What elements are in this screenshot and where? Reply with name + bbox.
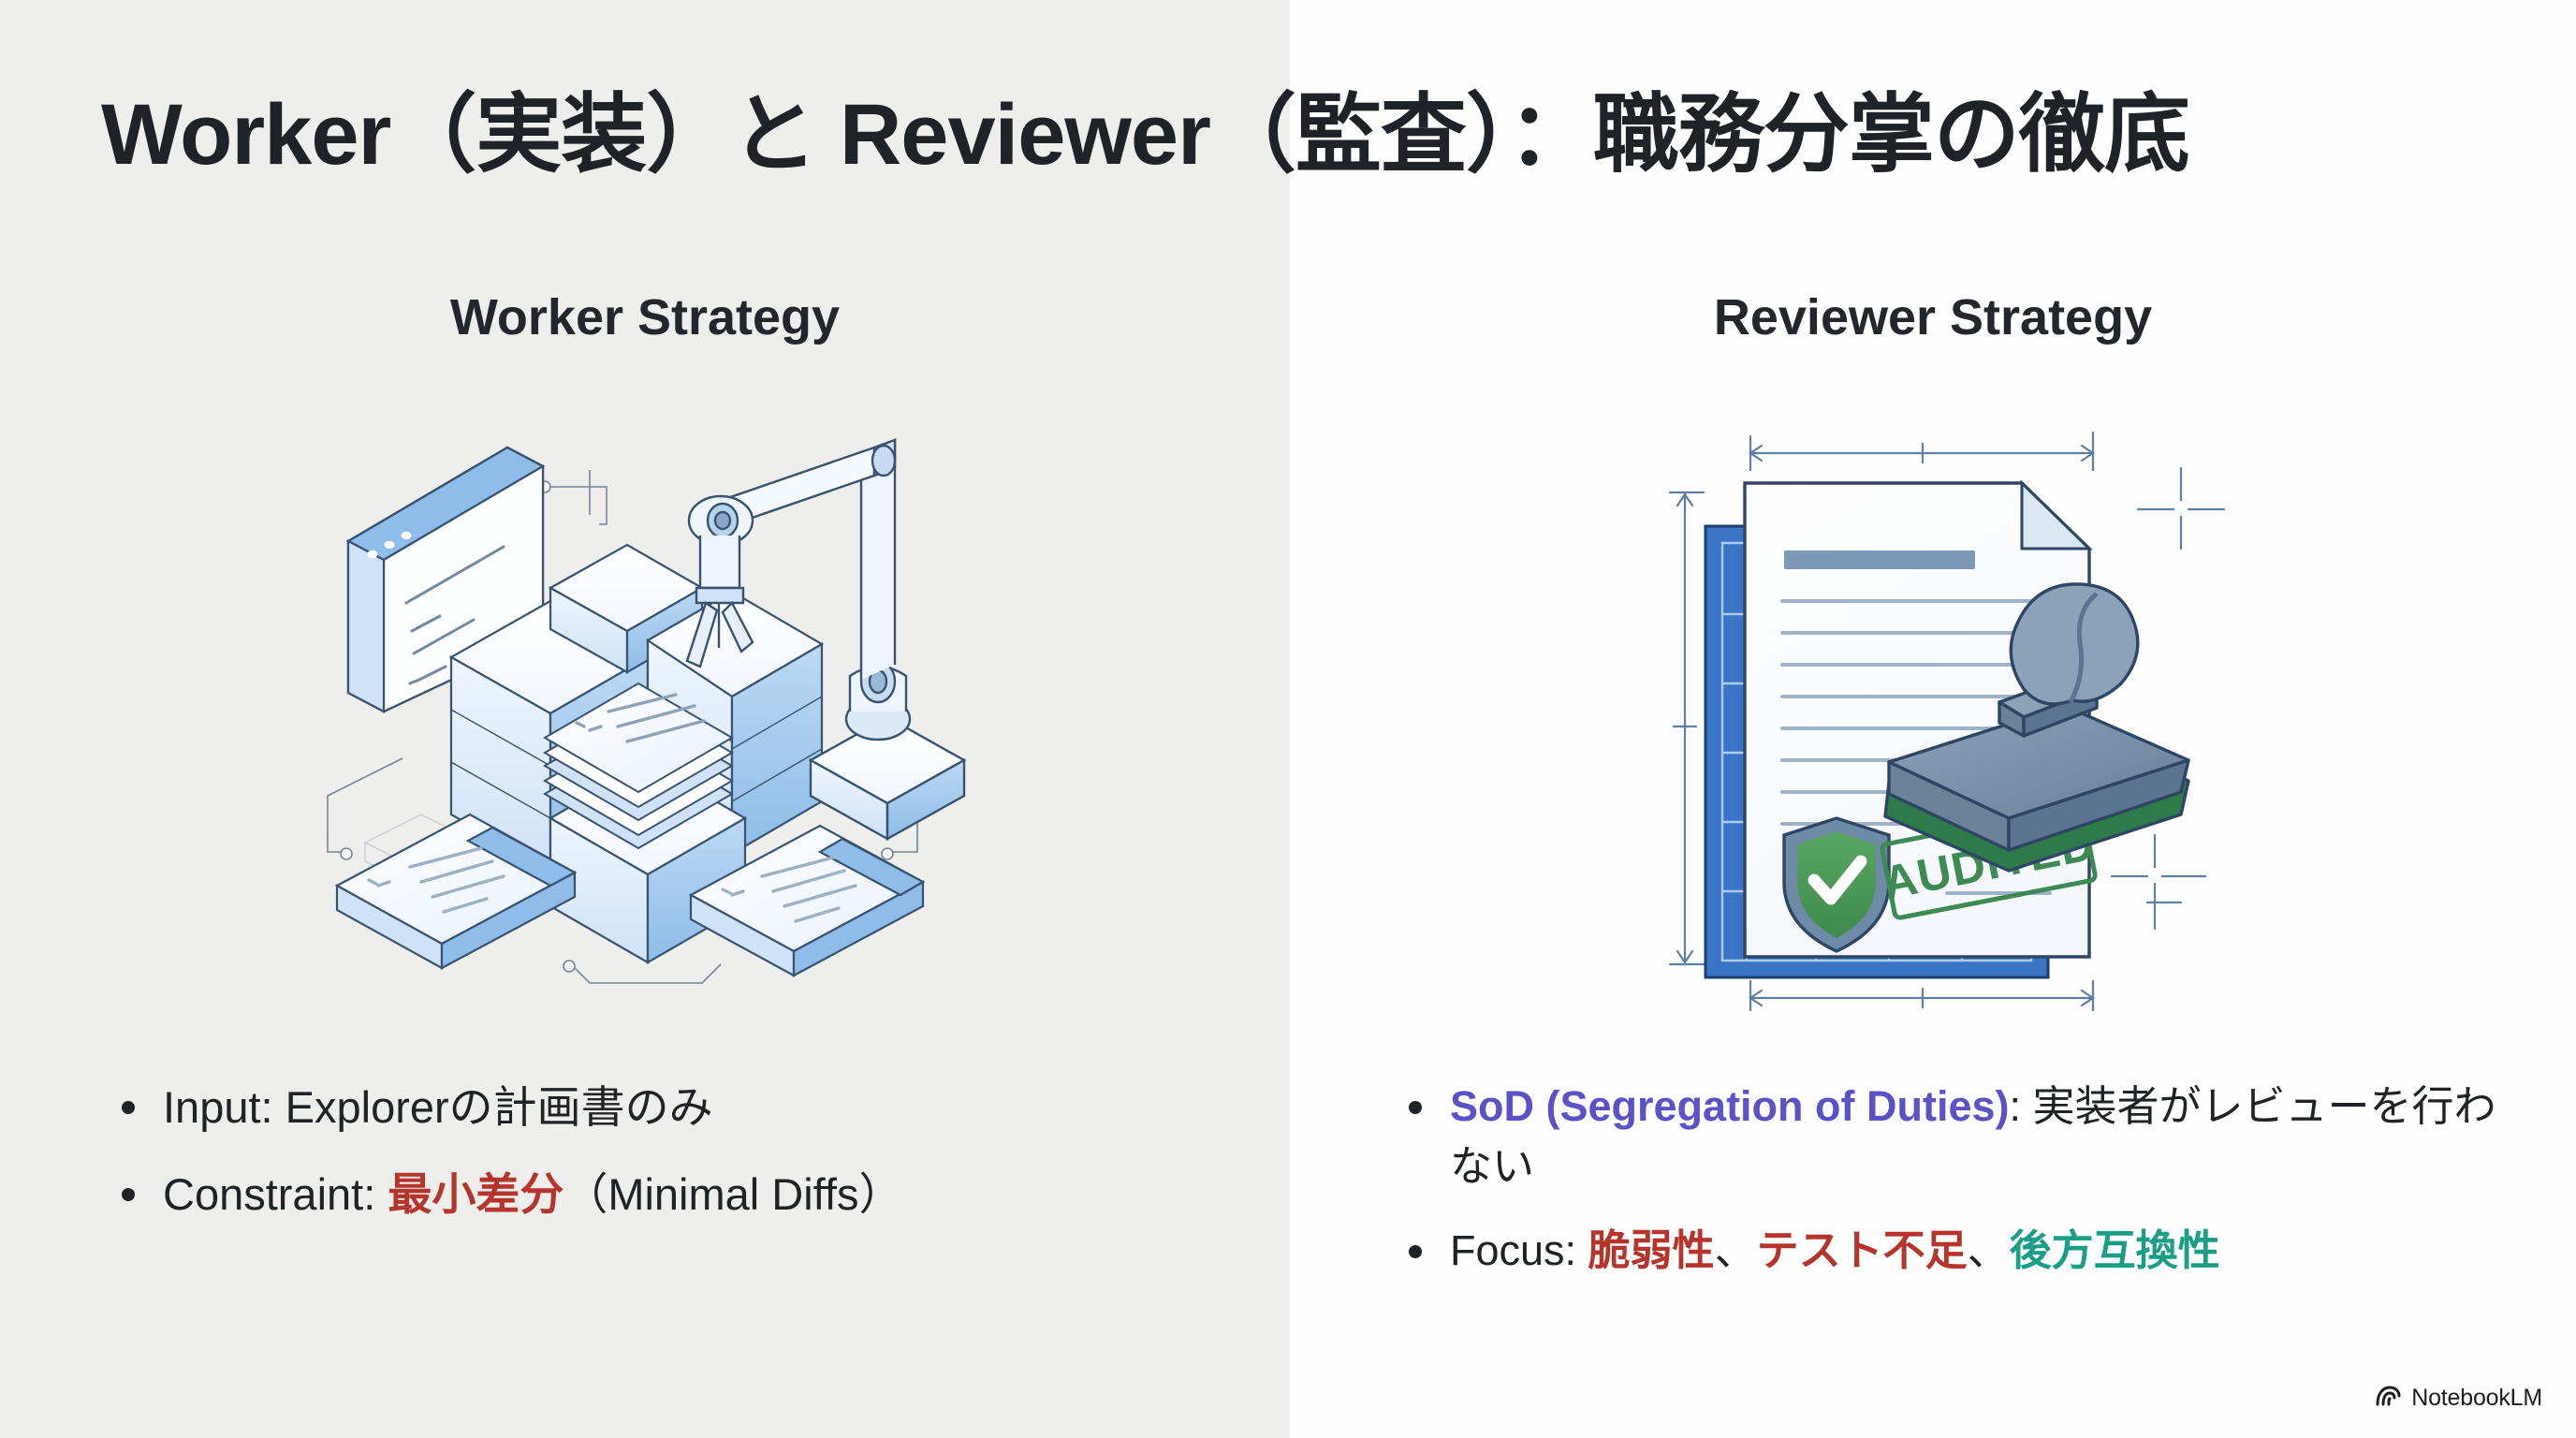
bullet-segment: （Minimal Diffs）	[563, 1169, 902, 1219]
reviewer-column-heading: Reviewer Strategy	[1290, 288, 2576, 346]
list-item: Focus: 脆弱性、テスト不足、後方互換性	[1409, 1221, 2513, 1281]
bullet-highlight-red: 最小差分	[388, 1169, 563, 1219]
bullet-highlight-teal: 後方互換性	[2010, 1226, 2220, 1274]
bullet-segment: Constraint:	[163, 1169, 388, 1219]
bullet-dot-icon	[1409, 1101, 1422, 1114]
bullet-highlight-red: テスト不足	[1757, 1226, 1968, 1274]
bullet-text: Constraint: 最小差分（Minimal Diffs）	[163, 1164, 902, 1226]
slide-canvas: Worker（実装）と Reviewer（監査）：職務分掌の徹底 Worker …	[0, 0, 2576, 1438]
bullet-separator: 、	[1715, 1226, 1757, 1274]
document-heading-bar	[1784, 550, 1975, 569]
reviewer-audit-svg: AUDITED	[1657, 403, 2293, 1011]
bullet-text: Focus: 脆弱性、テスト不足、後方互換性	[1450, 1221, 2220, 1281]
bullet-text: SoD (Segregation of Duties): 実装者がレビューを行わ…	[1450, 1077, 2513, 1196]
bullet-dot-icon	[1409, 1245, 1422, 1258]
bullet-segment: Input: Explorerの計画書のみ	[163, 1082, 713, 1132]
reviewer-bullet-list: SoD (Segregation of Duties): 実装者がレビューを行わ…	[1409, 1077, 2513, 1305]
bullet-segment: Focus:	[1450, 1226, 1588, 1274]
notebooklm-badge: NotebookLM	[2376, 1385, 2542, 1412]
bullet-highlight-red: 脆弱性	[1588, 1226, 1715, 1274]
notebooklm-label: NotebookLM	[2411, 1385, 2542, 1412]
list-item: Constraint: 最小差分（Minimal Diffs）	[122, 1164, 1226, 1226]
bullet-text: Input: Explorerの計画書のみ	[163, 1077, 713, 1139]
bullet-dot-icon	[122, 1101, 135, 1114]
page-title: Worker（実装）と Reviewer（監査）：職務分掌の徹底	[101, 86, 2497, 185]
worker-column-heading: Worker Strategy	[0, 288, 1290, 346]
bullet-highlight-purple: SoD (Segregation of Duties)	[1450, 1082, 2010, 1130]
list-item: Input: Explorerの計画書のみ	[122, 1077, 1226, 1139]
worker-illustration	[309, 403, 992, 1011]
notebooklm-spiral-icon	[2376, 1385, 2402, 1412]
bullet-separator: 、	[1968, 1226, 2010, 1274]
worker-isometric-svg	[309, 403, 992, 1011]
worker-bullet-list: Input: Explorerの計画書のみ Constraint: 最小差分（M…	[122, 1077, 1226, 1250]
list-item: SoD (Segregation of Duties): 実装者がレビューを行わ…	[1409, 1077, 2513, 1196]
reviewer-illustration: AUDITED	[1657, 403, 2293, 1011]
bullet-dot-icon	[122, 1188, 135, 1201]
crosshair-marks	[2112, 468, 2224, 929]
